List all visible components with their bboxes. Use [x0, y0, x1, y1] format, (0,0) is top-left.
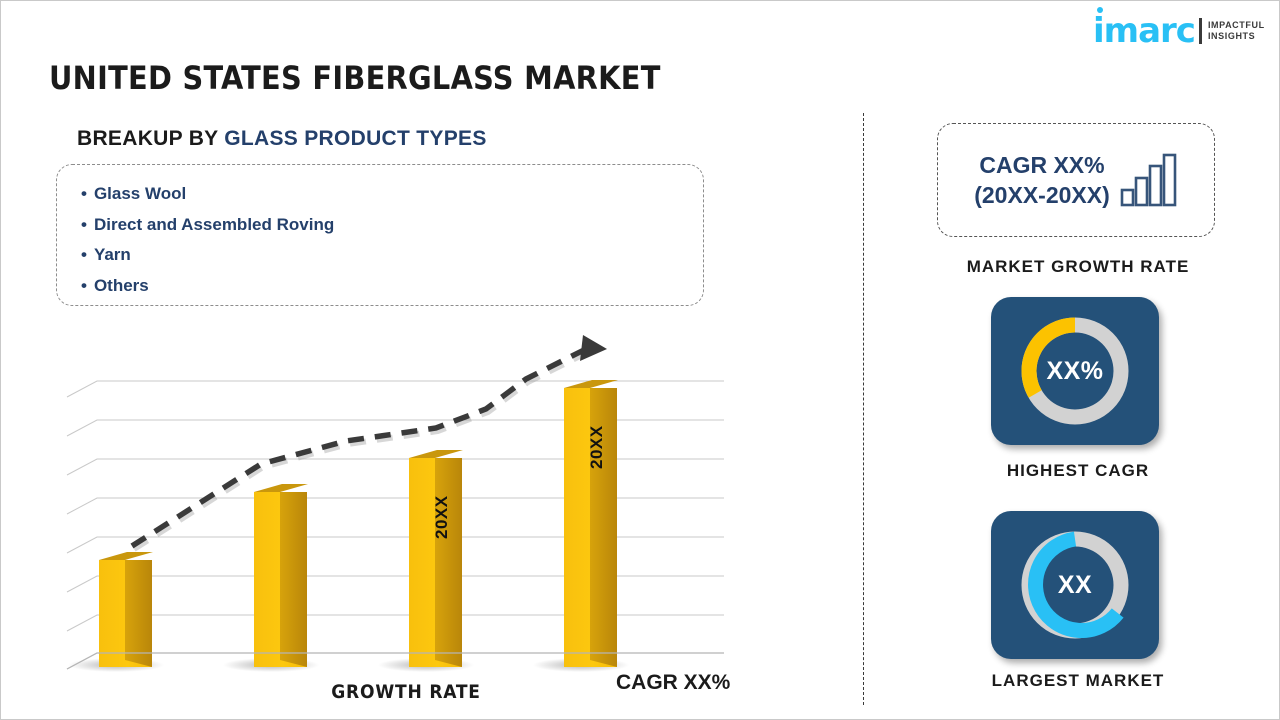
logo-tagline-line1: IMPACTFUL	[1208, 20, 1265, 31]
logo-tagline-line2: INSIGHTS	[1208, 31, 1265, 42]
segment-list-box: Glass Wool Direct and Assembled Roving Y…	[56, 164, 704, 306]
bar-value-label: 20XX	[432, 495, 452, 539]
chart-canvas	[56, 331, 756, 676]
chart-bar	[99, 552, 153, 667]
largest-market-value: XX	[1058, 571, 1092, 600]
bar-chart-icon	[1120, 152, 1178, 208]
segment-list: Glass Wool Direct and Assembled Roving Y…	[81, 179, 703, 301]
logo-i-dot-icon	[1097, 7, 1103, 13]
market-growth-rate-label: MARKET GROWTH RATE	[918, 257, 1238, 277]
cagr-summary-text: CAGR XX% (20XX-20XX)	[974, 150, 1110, 210]
cagr-value: CAGR XX%	[974, 150, 1110, 180]
cagr-period: (20XX-20XX)	[974, 180, 1110, 210]
list-item: Direct and Assembled Roving	[81, 210, 703, 241]
trend-arrow-icon	[580, 335, 607, 361]
infographic-page: imarc IMPACTFUL INSIGHTS UNITED STATES F…	[0, 0, 1280, 720]
logo-wordmark: imarc	[1093, 14, 1195, 48]
bar-value-label: 20XX	[587, 425, 607, 469]
list-item: Others	[81, 271, 703, 302]
chart-bar	[564, 380, 618, 667]
subtitle-prefix: BREAKUP BY	[77, 127, 224, 150]
chart-x-axis-label: GROWTH RATE	[56, 681, 756, 703]
cagr-summary-box: CAGR XX% (20XX-20XX)	[937, 123, 1215, 237]
list-item: Glass Wool	[81, 179, 703, 210]
chart-bar	[409, 450, 463, 667]
logo-tagline: IMPACTFUL INSIGHTS	[1208, 20, 1265, 42]
largest-market-tile: XX	[991, 511, 1159, 659]
logo-divider	[1199, 18, 1202, 44]
largest-market-label: LARGEST MARKET	[918, 671, 1238, 691]
chart-bar	[254, 484, 308, 667]
list-item: Yarn	[81, 240, 703, 271]
highest-cagr-tile: XX%	[991, 297, 1159, 445]
growth-bar-chart: CAGR XX% 20XX 20XX GROWTH RATE	[56, 331, 756, 706]
imarc-logo: imarc IMPACTFUL INSIGHTS	[1093, 11, 1269, 51]
subtitle-highlight: GLASS PRODUCT TYPES	[224, 127, 486, 150]
bar-shadows	[68, 658, 629, 672]
logo-wordmark-text: imarc	[1093, 11, 1195, 51]
trend-line	[132, 335, 607, 549]
panel-divider	[863, 113, 864, 705]
page-subtitle: BREAKUP BY GLASS PRODUCT TYPES	[77, 127, 487, 151]
highest-cagr-value: XX%	[1046, 357, 1103, 386]
page-title: UNITED STATES FIBERGLASS MARKET	[49, 59, 661, 97]
highest-cagr-label: HIGHEST CAGR	[918, 461, 1238, 481]
